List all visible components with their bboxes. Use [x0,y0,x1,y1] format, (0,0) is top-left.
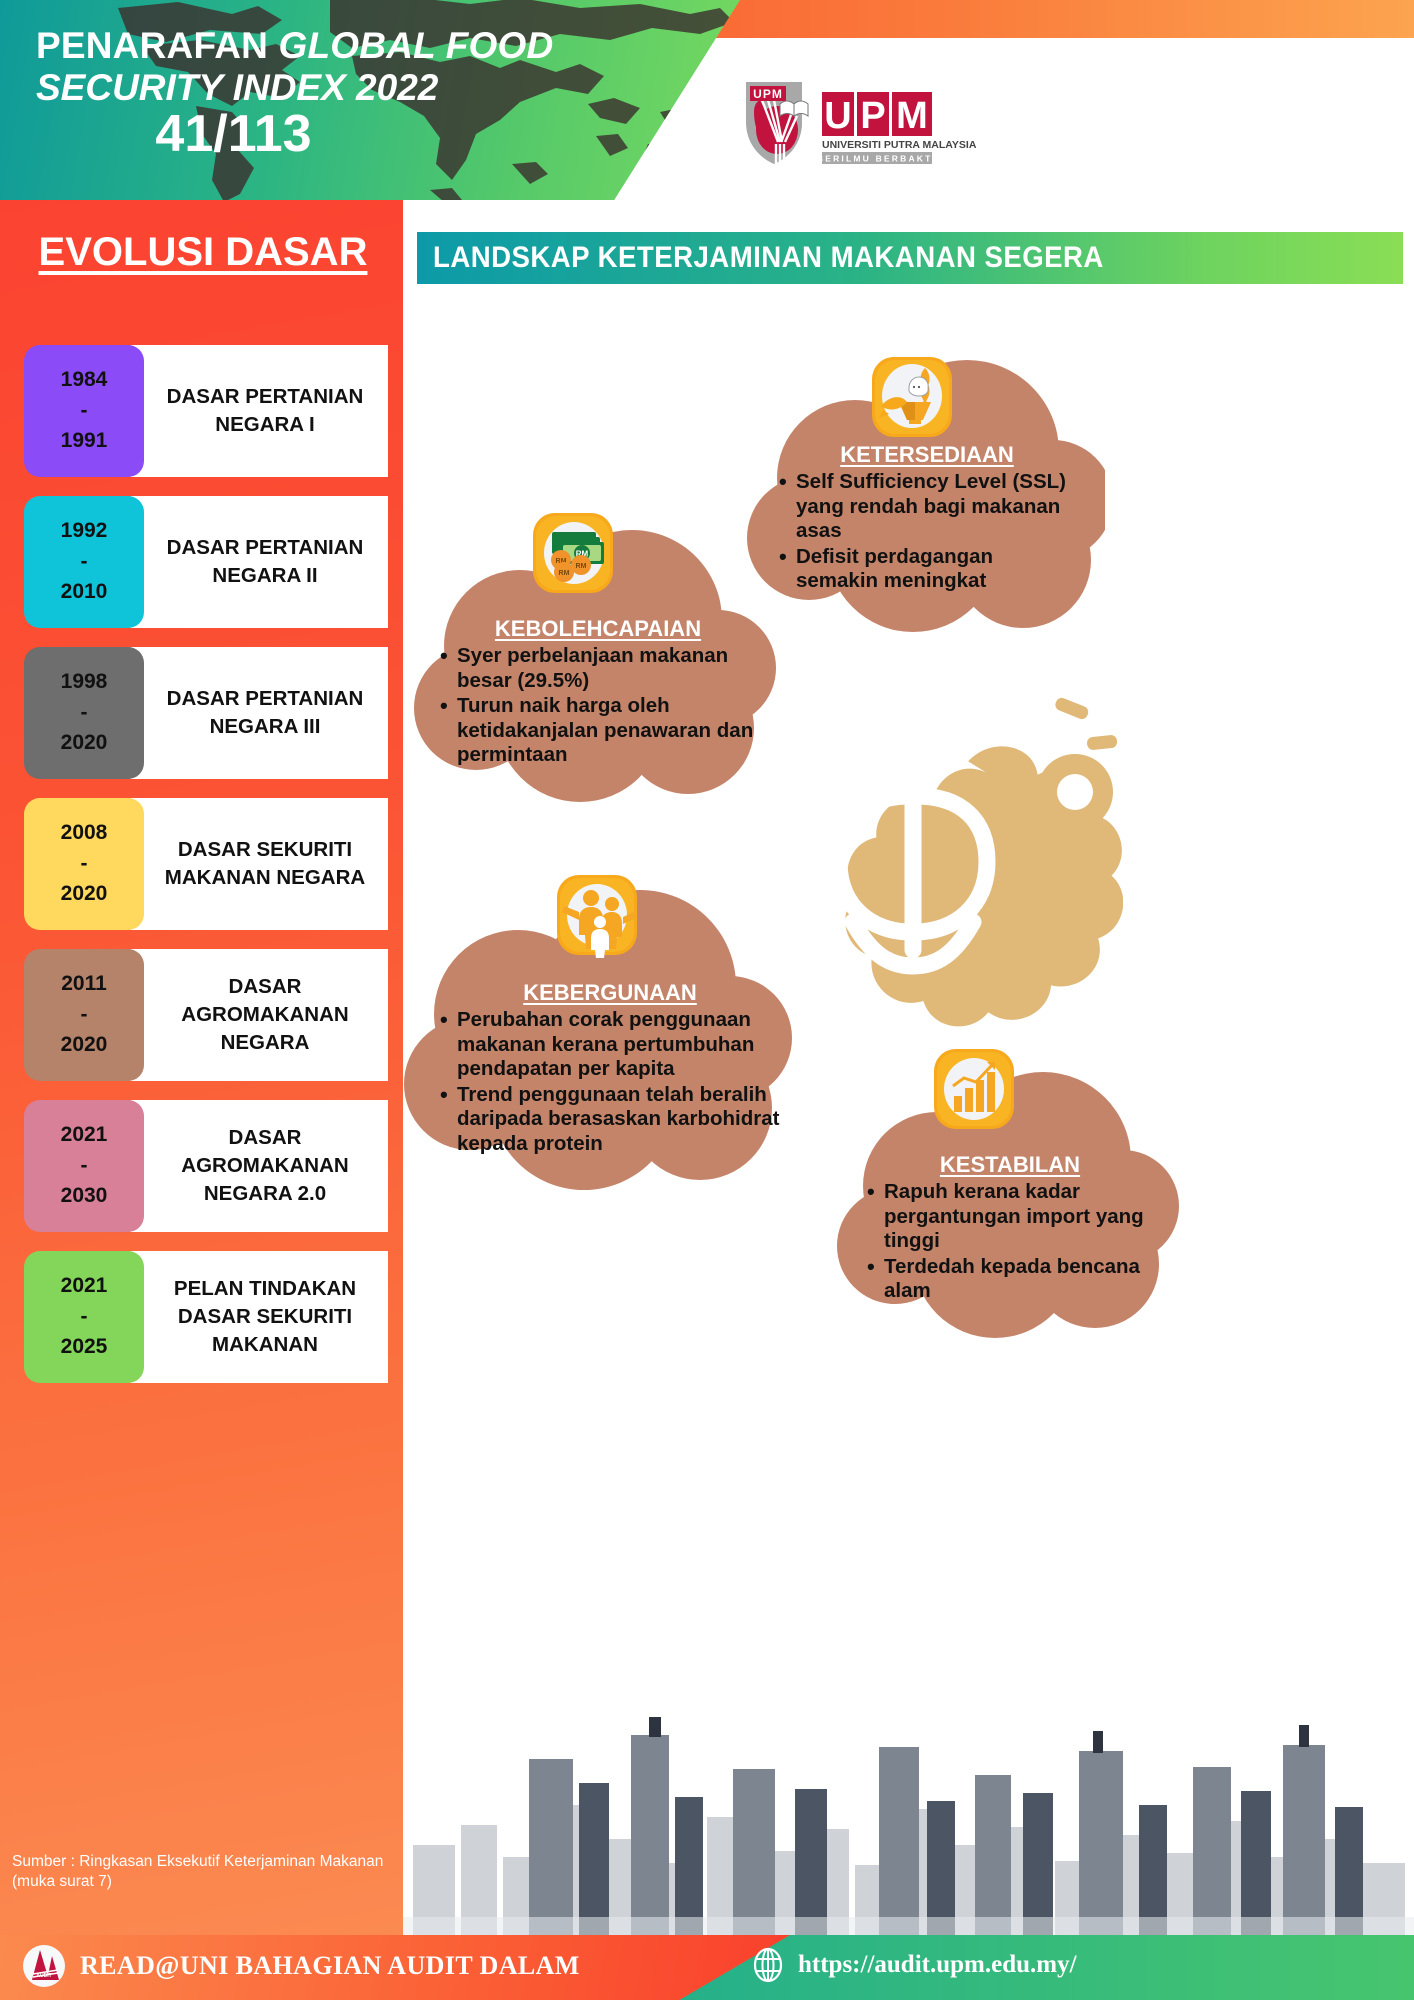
cloud-kebergunaan: KEBERGUNAAN Perubahan corak penggunaan m… [403,880,800,1210]
evolusi-dasar-heading: EVOLUSI DASAR [18,230,388,275]
year-to: 2025 [61,1332,108,1362]
policy-row: 2011 - 2020 DASAR AGROMAKANAN NEGARA [24,949,388,1081]
cloud-title: KETERSEDIAAN [777,442,1077,468]
list-item: Syer perbelanjaan makanan besar (29.5%) [438,644,758,693]
year-to: 2020 [61,1030,108,1060]
year-to: 2020 [61,728,108,758]
year-from: 1984 [61,365,108,395]
policy-year-badge: 1984 - 1991 [24,345,144,477]
cloud-bullet-list: Perubahan corak penggunaan makanan keran… [438,1008,782,1157]
policy-name: DASAR PERTANIAN NEGARA III [130,647,388,779]
svg-text:U: U [824,95,851,137]
policy-name: DASAR SEKURITI MAKANAN NEGARA [130,798,388,930]
year-dash: - [81,698,88,728]
cloud-ketersediaan: KETERSEDIAAN Self Sufficiency Level (SSL… [735,360,1105,640]
svg-text:M: M [896,95,928,137]
policy-row: 1992 - 2010 DASAR PERTANIAN NEGARA II [24,496,388,628]
policy-row: 2008 - 2020 DASAR SEKURITI MAKANAN NEGAR… [24,798,388,930]
cloud-title: KEBOLEHCAPAIAN [438,616,758,642]
cloud-bullet-list: Rapuh kerana kadar pergantungan import y… [865,1180,1155,1304]
year-to: 2030 [61,1181,108,1211]
title-italic: GLOBAL FOOD [279,25,554,66]
year-to: 2010 [61,577,108,607]
policy-name: DASAR AGROMAKANAN NEGARA 2.0 [130,1100,388,1232]
landskap-banner-label: LANDSKAP KETERJAMINAN MAKANAN SEGERA [433,241,1104,275]
title-line2: SECURITY INDEX 2022 [36,67,696,110]
landskap-panel: LANDSKAP KETERJAMINAN MAKANAN SEGERA [403,200,1414,1935]
svg-text:AUDIT: AUDIT [36,1973,51,1979]
globe-icon [750,1947,786,1983]
title-plain: PENARAFAN [36,25,279,66]
svg-text:RM: RM [559,570,570,577]
year-from: 1992 [61,516,108,546]
source-note: Sumber : Ringkasan Eksekutif Keterjamina… [12,1852,398,1891]
money-ringgit-icon: RM RM RM RM [530,510,616,596]
list-item: Self Sufficiency Level (SSL) yang rendah… [777,470,1077,544]
year-dash: - [81,1302,88,1332]
policy-row: 2021 - 2025 PELAN TINDAKAN DASAR SEKURIT… [24,1251,388,1383]
svg-text:UNIVERSITI PUTRA MALAYSIA: UNIVERSITI PUTRA MALAYSIA [822,139,977,151]
cloud-kestabilan: KESTABILAN Rapuh kerana kadar pergantung… [833,1060,1183,1360]
year-from: 2021 [61,1120,108,1150]
upm-logo: UPM U P M UNIVERSITI PUTRA MALAYSIA BERI… [740,78,980,168]
policy-row: 2021 - 2030 DASAR AGROMAKANAN NEGARA 2.0 [24,1100,388,1232]
gfsi-rank: 41/113 [36,107,696,162]
cloud-bullet-list: Self Sufficiency Level (SSL) yang rendah… [777,470,1077,594]
food-availability-icon [869,354,955,440]
year-from: 2011 [61,969,107,999]
year-dash: - [81,1151,88,1181]
policy-row: 1984 - 1991 DASAR PERTANIAN NEGARA I [24,345,388,477]
policy-name: DASAR AGROMAKANAN NEGARA [130,949,388,1081]
policy-year-badge: 1998 - 2020 [24,647,144,779]
year-from: 1998 [61,667,108,697]
footer-brand: AUDIT READ@UNI BAHAGIAN AUDIT DALAM [22,1944,580,1988]
growth-chart-icon [931,1046,1017,1132]
policy-year-badge: 1992 - 2010 [24,496,144,628]
cloud-title: KEBERGUNAAN [438,980,782,1006]
cloud-title: KESTABILAN [865,1152,1155,1178]
year-dash: - [81,547,88,577]
policy-year-badge: 2021 - 2030 [24,1100,144,1232]
year-to: 2020 [61,879,108,909]
list-item: Terdedah kepada bencana alam [865,1255,1155,1304]
read-uni-logo-icon: AUDIT [22,1944,66,1988]
page-footer: AUDIT READ@UNI BAHAGIAN AUDIT DALAM http… [0,1935,1414,2000]
svg-text:P: P [860,95,885,137]
list-item: Rapuh kerana kadar pergantungan import y… [865,1180,1155,1254]
cloud-kebolehcapaian: KEBOLEHCAPAIAN Syer perbelanjaan makanan… [410,520,782,810]
year-dash: - [81,1000,88,1030]
footer-left-label: READ@UNI BAHAGIAN AUDIT DALAM [80,1951,580,1981]
policy-name: PELAN TINDAKAN DASAR SEKURITI MAKANAN [130,1251,388,1383]
year-from: 2008 [61,818,108,848]
policy-row: 1998 - 2020 DASAR PERTANIAN NEGARA III [24,647,388,779]
footer-url-group[interactable]: https://audit.upm.edu.my/ [750,1947,1077,1983]
list-item: Perubahan corak penggunaan makanan keran… [438,1008,782,1082]
cloud-bullet-list: Syer perbelanjaan makanan besar (29.5%) … [438,644,758,768]
list-item: Defisit perdagangan semakin meningkat [777,545,1077,594]
year-from: 2021 [61,1271,108,1301]
list-item: Turun naik harga oleh ketidakanjalan pen… [438,694,758,768]
year-dash: - [81,849,88,879]
city-skyline-decoration [403,1705,1414,1935]
policy-year-badge: 2008 - 2020 [24,798,144,930]
year-dash: - [81,396,88,426]
policy-name: DASAR PERTANIAN NEGARA I [130,345,388,477]
list-item: Trend penggunaan telah beralih daripada … [438,1083,782,1157]
svg-text:RM: RM [576,563,587,570]
policy-year-badge: 2021 - 2025 [24,1251,144,1383]
evolusi-dasar-panel: EVOLUSI DASAR 1984 - 1991 DASAR PERTANIA… [0,200,403,1935]
svg-text:BERILMU BERBAKTI: BERILMU BERBAKTI [817,154,937,164]
policy-name: DASAR PERTANIAN NEGARA II [130,496,388,628]
page-title: PENARAFAN GLOBAL FOOD SECURITY INDEX 202… [36,26,696,162]
year-to: 1991 [61,426,108,456]
svg-text:UPM: UPM [753,87,783,101]
footer-url-label[interactable]: https://audit.upm.edu.my/ [798,1951,1077,1979]
policy-year-badge: 2011 - 2020 [24,949,144,1081]
page-header: PENARAFAN GLOBAL FOOD SECURITY INDEX 202… [0,0,1414,200]
family-people-icon [554,872,640,958]
landskap-banner: LANDSKAP KETERJAMINAN MAKANAN SEGERA [417,232,1403,284]
